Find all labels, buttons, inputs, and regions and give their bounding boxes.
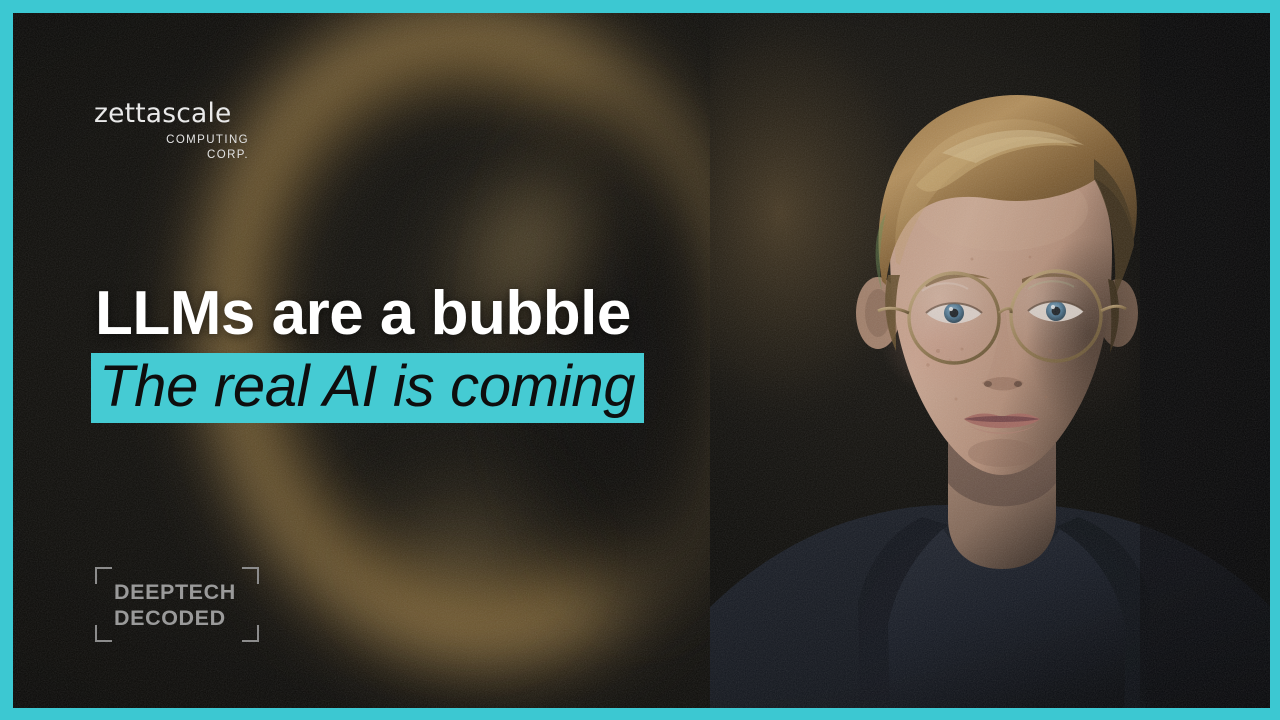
bracket-bottom-left-icon [95,625,112,642]
show-badge: DEEPTECH DECODED [95,567,259,642]
portrait-photo [710,13,1270,708]
zettascale-logo: zettascale COMPUTING CORP. [81,101,251,162]
headline-line-1: LLMs are a bubble [91,278,644,350]
headline-line-2: The real AI is coming [99,357,635,417]
thumbnail-stage: zettascale COMPUTING CORP. LLMs are a bu… [13,13,1270,708]
bracket-top-right-icon [242,567,259,584]
headline-block: LLMs are a bubble The real AI is coming [91,278,644,423]
logo-subline-corp: CORP. [81,148,251,162]
background-glow-lower [313,433,613,683]
bracket-top-left-icon [95,567,112,584]
show-badge-line-1: DEEPTECH [114,579,236,605]
logo-subline-computing: COMPUTING [81,133,251,147]
headline-highlight-band: The real AI is coming [91,353,644,423]
show-badge-line-2: DECODED [114,605,236,631]
video-thumbnail: zettascale COMPUTING CORP. LLMs are a bu… [0,0,1280,720]
logo-wordmark: zettascale [81,101,251,128]
bracket-bottom-right-icon [242,625,259,642]
show-badge-text: DEEPTECH DECODED [114,579,236,631]
